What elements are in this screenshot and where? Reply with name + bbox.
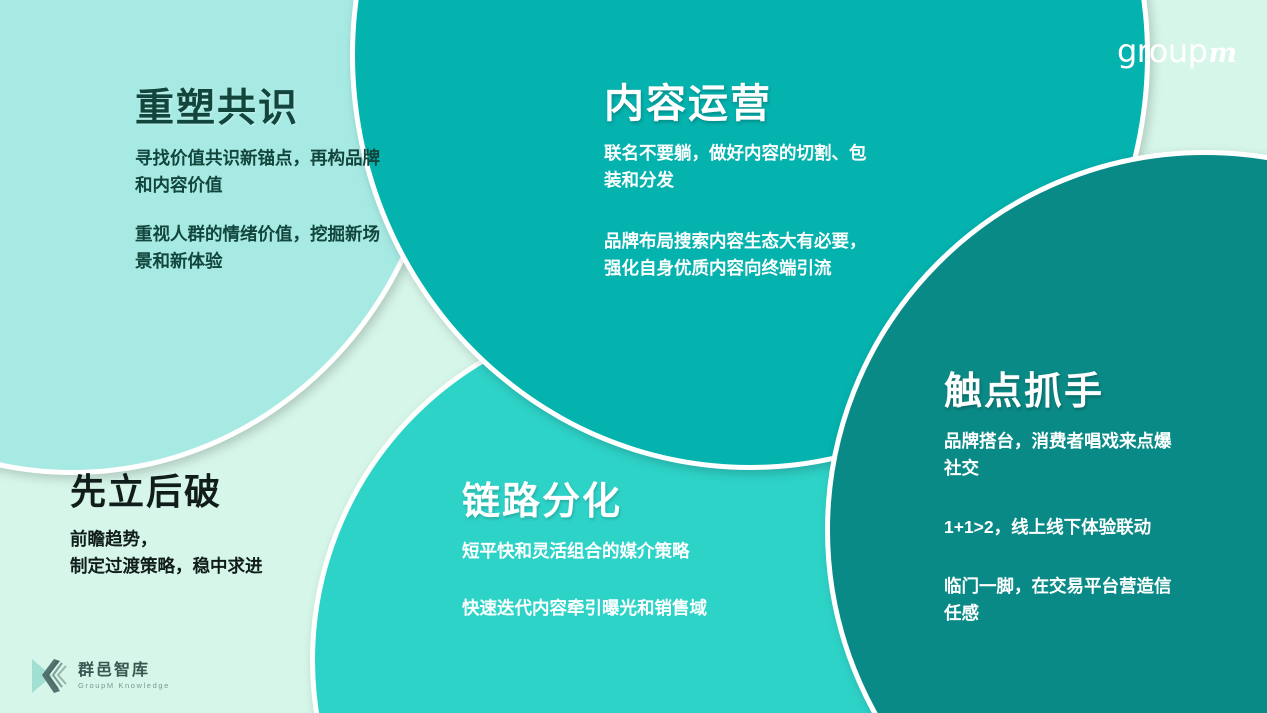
section-reshape-line: 寻找价值共识新锚点，再构品牌 <box>135 145 470 172</box>
section-reshape-line: 景和新体验 <box>135 248 470 275</box>
section-content-ops-line: 品牌布局搜索内容生态大有必要， <box>604 228 954 255</box>
slide-canvas: 重塑共识 寻找价值共识新锚点，再构品牌 和内容价值 重视人群的情绪价值，挖掘新场… <box>0 0 1267 713</box>
groupm-knowledge-logo-en: GroupM Knowledge <box>78 682 170 690</box>
section-reshape-title: 重塑共识 <box>135 88 470 131</box>
groupm-knowledge-logo-cn: 群邑智库 <box>78 663 170 679</box>
section-chain-split: 链路分化 短平快和灵活组合的媒介策略 快速迭代内容牵引曝光和销售域 <box>462 482 812 652</box>
section-establish-first: 先立后破 前瞻趋势， 制定过渡策略，稳中求进 <box>70 472 370 580</box>
section-establish-first-title: 先立后破 <box>70 472 370 512</box>
section-touchpoint-line: 品牌搭台，消费者唱戏来点爆 <box>944 428 1244 455</box>
section-touchpoint: 触点抓手 品牌搭台，消费者唱戏来点爆 社交 1+1>2，线上线下体验联动 临门一… <box>944 372 1244 659</box>
groupm-logo-word: group <box>1117 32 1207 70</box>
groupm-logo: group m <box>1117 32 1237 70</box>
section-establish-first-paragraph: 前瞻趋势， 制定过渡策略，稳中求进 <box>70 526 370 580</box>
section-touchpoint-line: 1+1>2，线上线下体验联动 <box>944 514 1244 541</box>
section-content-ops: 内容运营 联名不要躺，做好内容的切割、包 装和分发 品牌布局搜索内容生态大有必要… <box>604 82 954 317</box>
section-touchpoint-line: 社交 <box>944 455 1244 482</box>
section-content-ops-paragraph: 联名不要躺，做好内容的切割、包 装和分发 <box>604 140 954 194</box>
section-chain-split-paragraph: 快速迭代内容牵引曝光和销售域 <box>462 595 812 622</box>
section-touchpoint-title: 触点抓手 <box>944 372 1244 414</box>
groupm-knowledge-k-mark-icon <box>30 655 70 697</box>
section-chain-split-line: 短平快和灵活组合的媒介策略 <box>462 538 812 565</box>
section-reshape-paragraph: 重视人群的情绪价值，挖掘新场 景和新体验 <box>135 221 470 275</box>
section-reshape: 重塑共识 寻找价值共识新锚点，再构品牌 和内容价值 重视人群的情绪价值，挖掘新场… <box>135 88 470 275</box>
section-touchpoint-paragraph: 1+1>2，线上线下体验联动 <box>944 514 1244 541</box>
section-reshape-paragraph: 寻找价值共识新锚点，再构品牌 和内容价值 <box>135 145 470 199</box>
section-content-ops-line: 强化自身优质内容向终端引流 <box>604 255 954 282</box>
section-touchpoint-paragraph: 临门一脚，在交易平台营造信 任感 <box>944 573 1244 627</box>
section-touchpoint-line: 任感 <box>944 600 1244 627</box>
section-touchpoint-paragraph: 品牌搭台，消费者唱戏来点爆 社交 <box>944 428 1244 482</box>
section-reshape-line: 重视人群的情绪价值，挖掘新场 <box>135 221 470 248</box>
section-touchpoint-line: 临门一脚，在交易平台营造信 <box>944 573 1244 600</box>
section-reshape-line: 和内容价值 <box>135 172 470 199</box>
section-content-ops-title: 内容运营 <box>604 82 954 126</box>
groupm-knowledge-logo: 群邑智库 GroupM Knowledge <box>30 655 170 697</box>
section-establish-first-line: 前瞻趋势， <box>70 526 370 553</box>
section-content-ops-line: 联名不要躺，做好内容的切割、包 <box>604 140 954 167</box>
groupm-logo-m-icon: m <box>1208 38 1237 69</box>
section-establish-first-line: 制定过渡策略，稳中求进 <box>70 553 370 580</box>
section-content-ops-line: 装和分发 <box>604 167 954 194</box>
section-chain-split-paragraph: 短平快和灵活组合的媒介策略 <box>462 538 812 565</box>
groupm-knowledge-logo-text: 群邑智库 GroupM Knowledge <box>78 663 170 690</box>
section-chain-split-title: 链路分化 <box>462 482 812 524</box>
section-content-ops-paragraph: 品牌布局搜索内容生态大有必要， 强化自身优质内容向终端引流 <box>604 228 954 282</box>
section-chain-split-line: 快速迭代内容牵引曝光和销售域 <box>462 595 812 622</box>
